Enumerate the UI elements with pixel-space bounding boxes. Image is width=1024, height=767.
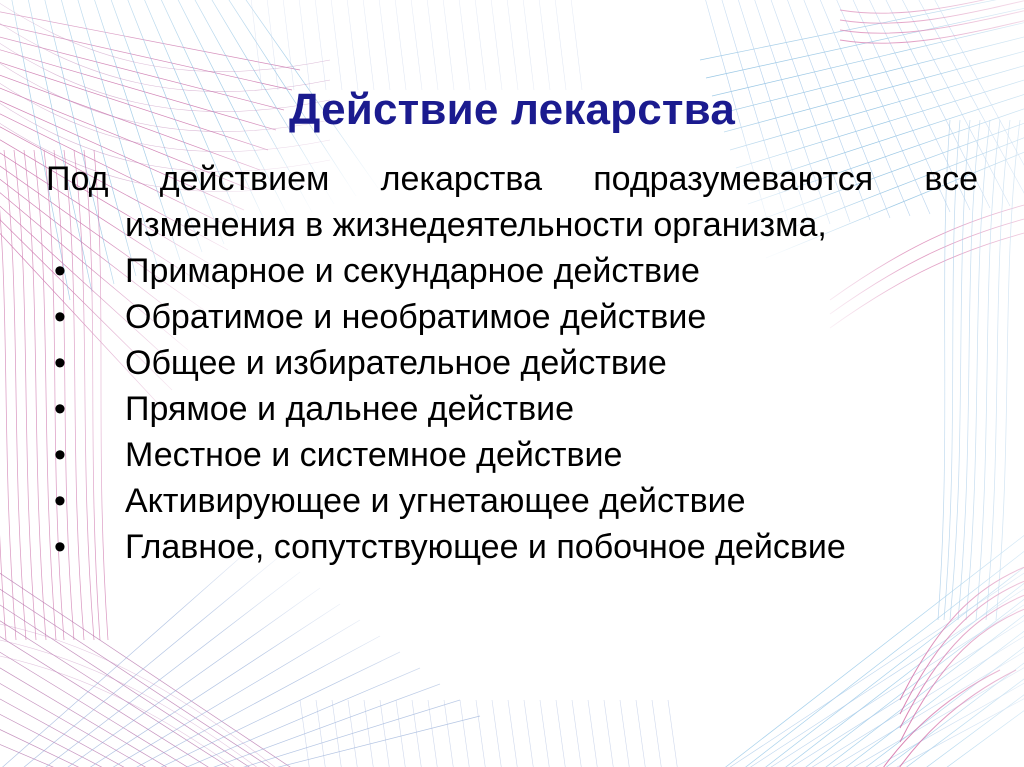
list-item-label: Активирующее и угнетающее действие (125, 478, 978, 524)
bullet-point-icon: • (54, 432, 74, 478)
list-item: • Обратимое и необратимое действие (46, 294, 978, 340)
bullet-point-icon: • (54, 248, 74, 294)
bullet-point-icon: • (54, 386, 74, 432)
bullet-list: • Примарное и секундарное действие • Обр… (46, 248, 978, 570)
slide-body: Под действием лекарства подразумеваются … (46, 156, 978, 570)
lead-paragraph-text: Под действием лекарства подразумеваются … (46, 156, 978, 248)
list-item-label: Общее и избирательное действие (125, 340, 978, 386)
bullet-point-icon: • (54, 524, 74, 570)
bullet-point-icon: • (54, 478, 74, 524)
slide-content: Действие лекарства Под действием лекарст… (0, 0, 1024, 767)
lead-paragraph: Под действием лекарства подразумеваются … (46, 156, 978, 248)
list-item: • Местное и системное действие (46, 432, 978, 478)
list-item: • Общее и избирательное действие (46, 340, 978, 386)
presentation-slide: Действие лекарства Под действием лекарст… (0, 0, 1024, 767)
list-item-label: Обратимое и необратимое действие (125, 294, 978, 340)
list-item-label: Прямое и дальнее действие (125, 386, 978, 432)
list-item-label: Главное, сопутствующее и побочное дейсви… (125, 524, 978, 570)
list-item: • Активирующее и угнетающее действие (46, 478, 978, 524)
list-item: • Примарное и секундарное действие (46, 248, 978, 294)
bullet-point-icon: • (54, 340, 74, 386)
list-item: • Прямое и дальнее действие (46, 386, 978, 432)
list-item-label: Местное и системное действие (125, 432, 978, 478)
slide-title: Действие лекарства (0, 86, 1024, 134)
bullet-point-icon: • (54, 294, 74, 340)
list-item-label: Примарное и секундарное действие (125, 248, 978, 294)
list-item: • Главное, сопутствующее и побочное дейс… (46, 524, 978, 570)
